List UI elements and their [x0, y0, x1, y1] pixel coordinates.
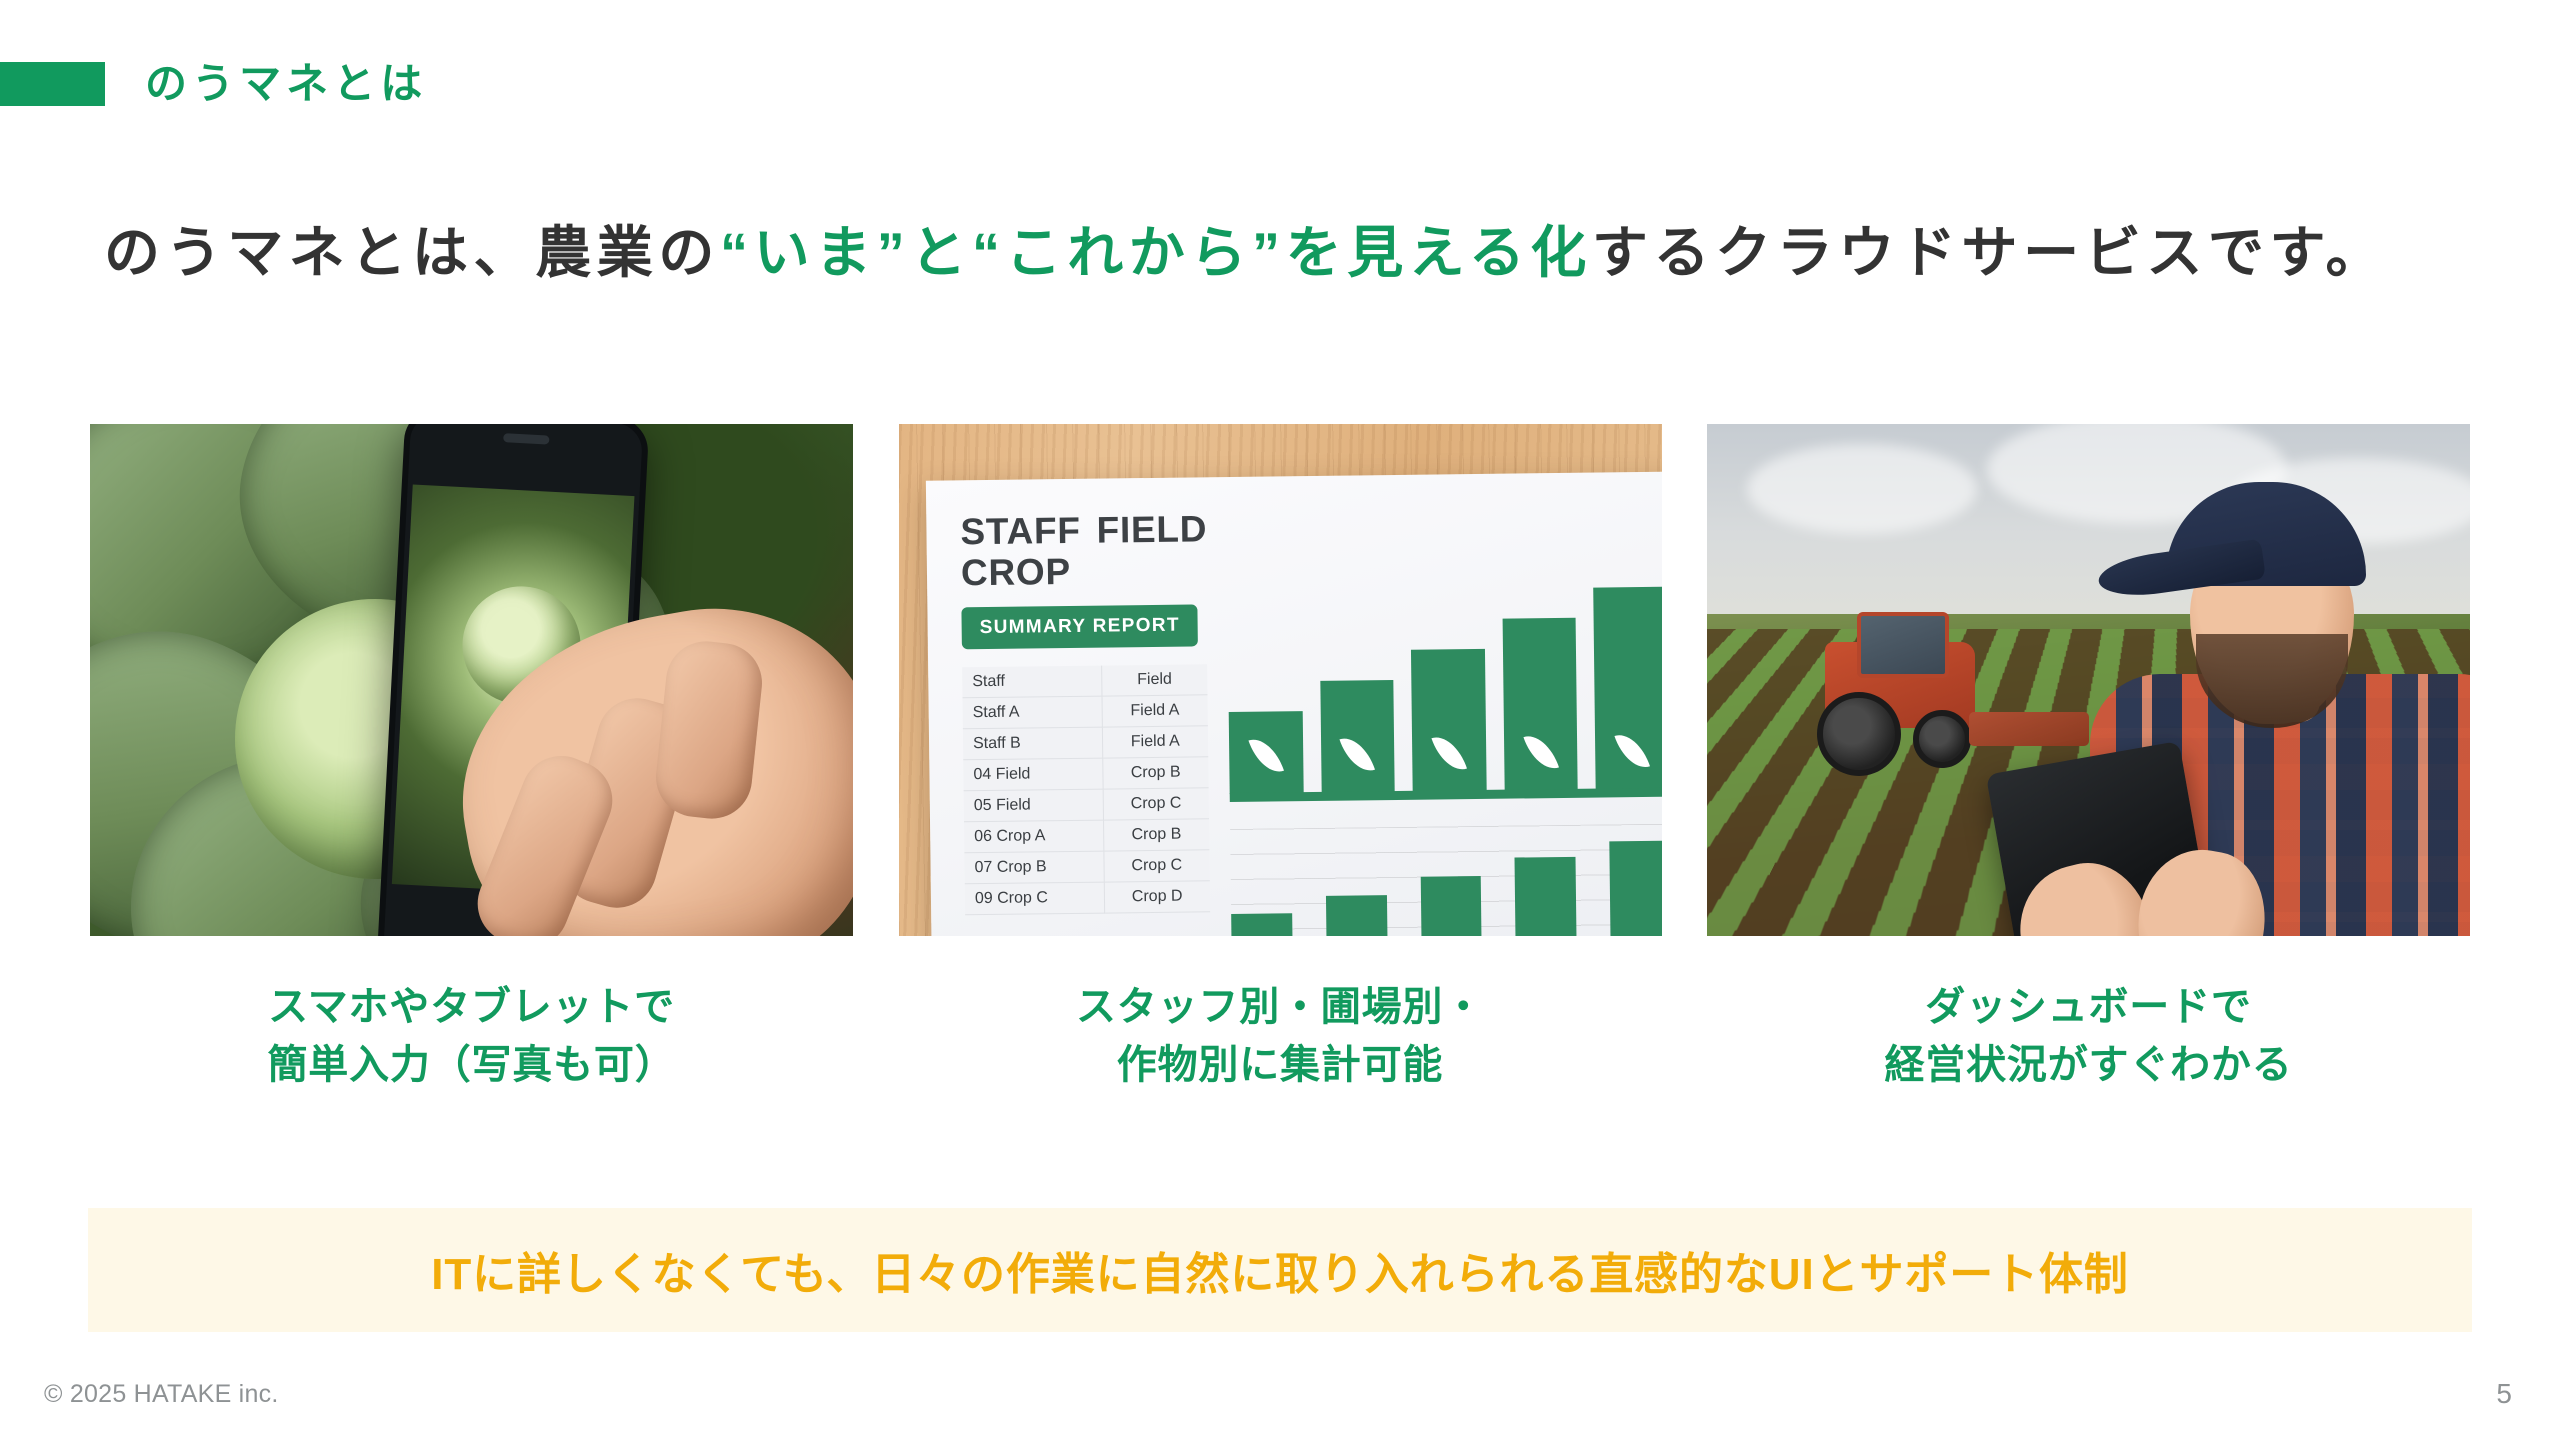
- caption-line: 簡単入力（写真も可）: [90, 1036, 853, 1094]
- caption-line: 作物別に集計可能: [899, 1036, 1662, 1094]
- table-row: 05 Field Crop C: [963, 788, 1208, 822]
- lower-chart-bars: [1230, 826, 1662, 936]
- tractor-cab: [1857, 612, 1949, 678]
- table-cell: 06 Crop A: [964, 820, 1103, 853]
- table-row: Staff A Field A: [962, 695, 1207, 729]
- table-cell: Staff B: [962, 727, 1101, 760]
- headline-part-1: のうマネとは、農業の: [104, 221, 720, 284]
- table-cell: 09 Crop C: [964, 882, 1103, 915]
- tractor-wheel: [1913, 710, 1971, 768]
- feature-card-3-caption: ダッシュボードで 経営状況がすぐわかる: [1707, 978, 2470, 1094]
- table-row: Staff Field: [962, 665, 1207, 698]
- caption-line: スマホやタブレットで: [90, 978, 853, 1036]
- feature-card-3: ダッシュボードで 経営状況がすぐわかる: [1707, 424, 2470, 1094]
- table-cell: Crop C: [1102, 788, 1208, 820]
- headline-accent-phrase: “いま”と“これから”を見える化: [720, 221, 1592, 284]
- table-row: 07 Crop B Crop C: [964, 850, 1209, 884]
- cloud-shape: [1747, 444, 1977, 534]
- headline-part-2: するクラウドサービスです。: [1592, 221, 2387, 284]
- table-cell: Staff: [962, 666, 1101, 698]
- report-summary-badge: SUMMARY REPORT: [961, 605, 1198, 650]
- slide-root: のうマネとは のうマネとは、農業の“いま”と“これから”を見える化するクラウドサ…: [0, 0, 2560, 1440]
- page-number: 5: [2496, 1378, 2512, 1410]
- bar: [1325, 895, 1387, 936]
- leaf-icon: [1431, 731, 1467, 777]
- section-header: のうマネとは: [0, 62, 427, 106]
- feature-card-row: スマホやタブレットで 簡単入力（写真も可） STAFFFIELD CROP SU…: [90, 424, 2470, 1094]
- upper-chart-bars: [1227, 574, 1662, 794]
- bar: [1514, 857, 1576, 936]
- leaf-icon: [1339, 732, 1375, 778]
- table-cell: Crop B: [1103, 819, 1209, 851]
- report-bar-chart-upper: [1227, 582, 1662, 802]
- page-headline: のうマネとは、農業の“いま”と“これから”を見える化するクラウドサービスです。: [104, 218, 2387, 288]
- table-row: 04 Field Crop B: [963, 757, 1208, 791]
- report-title-word-1: STAFF: [960, 510, 1081, 552]
- table-row: Staff B Field A: [962, 726, 1207, 760]
- table-cell: Field A: [1101, 695, 1207, 727]
- smartphone-photographing-cabbage-photo: [90, 424, 853, 936]
- bar: [1228, 711, 1303, 794]
- caption-line: 経営状況がすぐわかる: [1707, 1036, 2470, 1094]
- tractor-wheel: [1817, 692, 1901, 776]
- bar: [1502, 618, 1578, 791]
- report-title-word-3: CROP: [960, 551, 1070, 593]
- bar: [1609, 841, 1662, 936]
- table-row: 06 Crop A Crop B: [964, 819, 1209, 853]
- report-paper-sheet: STAFFFIELD CROP SUMMARY REPORT Staff Fie…: [925, 471, 1661, 936]
- caption-line: ダッシュボードで: [1707, 978, 2470, 1036]
- feature-card-2: STAFFFIELD CROP SUMMARY REPORT Staff Fie…: [899, 424, 1662, 1094]
- table-cell: 04 Field: [963, 758, 1102, 791]
- table-cell: Crop B: [1102, 757, 1208, 789]
- phone-notch-icon: [503, 433, 549, 444]
- leaf-icon: [1523, 729, 1559, 775]
- feature-card-1: スマホやタブレットで 簡単入力（写真も可）: [90, 424, 853, 1094]
- footer-copyright: © 2025 HATAKE inc.: [44, 1380, 279, 1409]
- feature-card-1-caption: スマホやタブレットで 簡単入力（写真も可）: [90, 978, 853, 1094]
- sky-background: [1707, 424, 2470, 624]
- table-cell: Crop D: [1103, 881, 1209, 913]
- section-title: のうマネとは: [145, 63, 427, 105]
- report-bar-chart-lower: 01 Staff A 02. Staff B 03 Field A 04 Fie…: [1230, 824, 1662, 936]
- table-cell: Field A: [1101, 726, 1207, 758]
- report-table-body: Staff Field Staff A Field A Staff B Fiel…: [962, 665, 1210, 915]
- highlight-banner: ITに詳しくなくても、日々の作業に自然に取り入れられる直感的なUIとサポート体制: [88, 1208, 2472, 1332]
- farmer-with-tablet-photo: [1707, 424, 2470, 936]
- bar: [1319, 680, 1394, 793]
- table-cell: 07 Crop B: [964, 851, 1103, 884]
- highlight-banner-text: ITに詳しくなくても、日々の作業に自然に取り入れられる直感的なUIとサポート体制: [431, 1238, 2128, 1302]
- header-accent-bar-icon: [0, 62, 105, 106]
- bar: [1231, 913, 1292, 936]
- leaf-icon: [1248, 733, 1284, 779]
- leaf-icon: [1614, 728, 1650, 774]
- bar: [1593, 587, 1661, 790]
- report-title-word-2: FIELD: [1096, 508, 1207, 550]
- table-row: 09 Crop C Crop D: [964, 881, 1209, 915]
- table-cell: Staff A: [962, 696, 1101, 729]
- bar: [1411, 649, 1486, 792]
- table-cell: Crop C: [1103, 850, 1209, 882]
- feature-card-2-caption: スタッフ別・圃場別・ 作物別に集計可能: [899, 978, 1662, 1094]
- tractor-implement: [1969, 712, 2089, 746]
- table-cell: 05 Field: [963, 789, 1102, 822]
- printed-summary-report-photo: STAFFFIELD CROP SUMMARY REPORT Staff Fie…: [899, 424, 1662, 936]
- table-cell: Field: [1101, 665, 1207, 697]
- bar: [1420, 876, 1482, 936]
- caption-line: スタッフ別・圃場別・: [899, 978, 1662, 1036]
- report-data-table: Staff Field Staff A Field A Staff B Fiel…: [962, 665, 1210, 916]
